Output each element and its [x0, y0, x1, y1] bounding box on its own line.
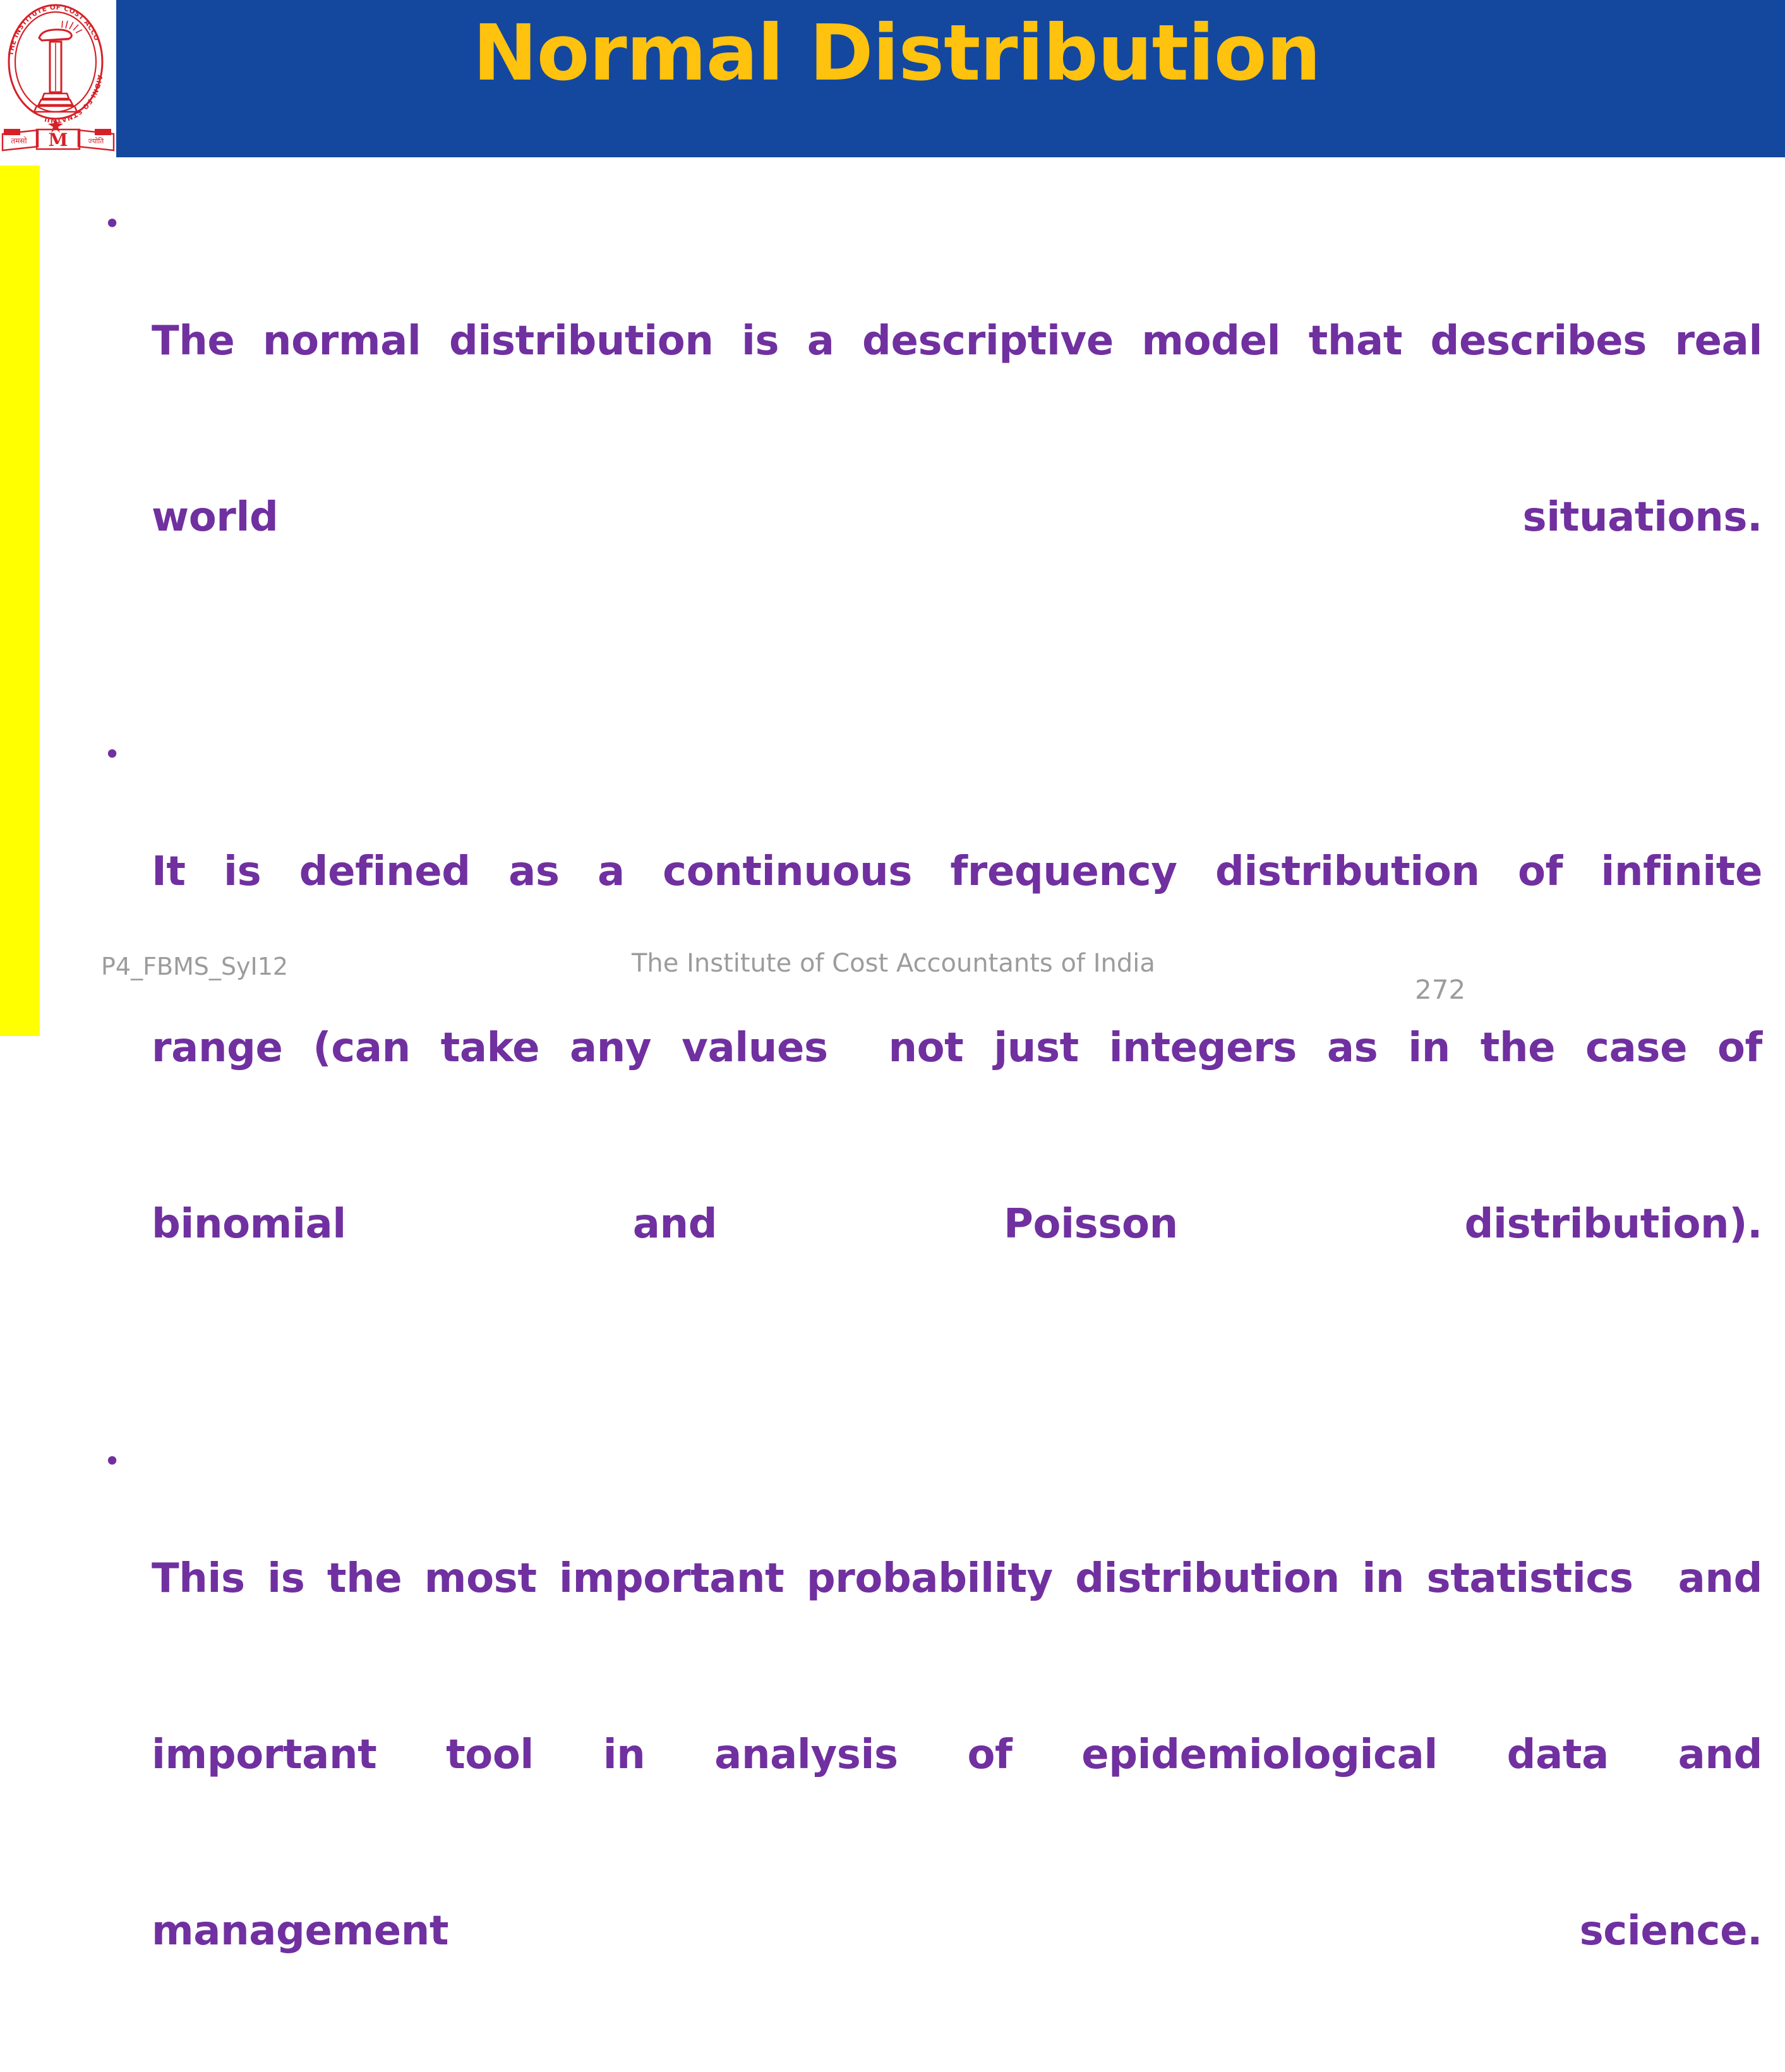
bullet-line: world situations. — [152, 488, 1762, 547]
bullet-item: • It is defined as a continuous frequenc… — [88, 725, 1762, 1371]
bullet-text: This is the most important probability d… — [152, 1432, 1762, 2072]
bullet-item: • The normal distribution is a descripti… — [88, 195, 1762, 665]
left-accent-stripe — [0, 157, 40, 1036]
bullet-marker: • — [88, 1432, 152, 1490]
icai-emblem-icon: THE INSTITUTE OF COST ACCO AIDNI FO STNA… — [0, 0, 116, 166]
bullet-text: It is defined as a continuous frequency … — [152, 725, 1762, 1371]
slide-body: • The normal distribution is a descripti… — [88, 195, 1762, 908]
svg-text:तमसो: तमसो — [11, 136, 27, 145]
svg-text:ज्योति: ज्योति — [88, 137, 104, 145]
footer-organization: The Institute of Cost Accountants of Ind… — [632, 949, 1155, 978]
slide-footer: P4_FBMS_SyI12 The Institute of Cost Acco… — [0, 941, 1785, 1036]
bullet-text: The normal distribution is a descriptive… — [152, 195, 1762, 665]
bullet-line: binomial and Poisson distribution). — [152, 1195, 1762, 1254]
footer-course-code: P4_FBMS_SyI12 — [101, 953, 288, 980]
bullet-marker: • — [88, 195, 152, 253]
bullet-marker: • — [88, 725, 152, 783]
title-bar: Normal Distribution — [116, 0, 1785, 157]
svg-text:M: M — [49, 129, 68, 150]
icai-logo: THE INSTITUTE OF COST ACCO AIDNI FO STNA… — [0, 0, 116, 166]
bullet-line: The normal distribution is a descriptive… — [152, 312, 1762, 371]
bullet-line: This is the most important probability d… — [152, 1550, 1762, 1608]
bullet-line: important tool in analysis of epidemiolo… — [152, 1726, 1762, 1785]
page-title: Normal Distribution — [116, 5, 1785, 102]
bullet-line: It is defined as a continuous frequency … — [152, 843, 1762, 901]
slide-page-number: 272 — [1415, 974, 1465, 1005]
bullet-line: management science. — [152, 1902, 1762, 1961]
bullet-item: • This is the most important probability… — [88, 1432, 1762, 2072]
